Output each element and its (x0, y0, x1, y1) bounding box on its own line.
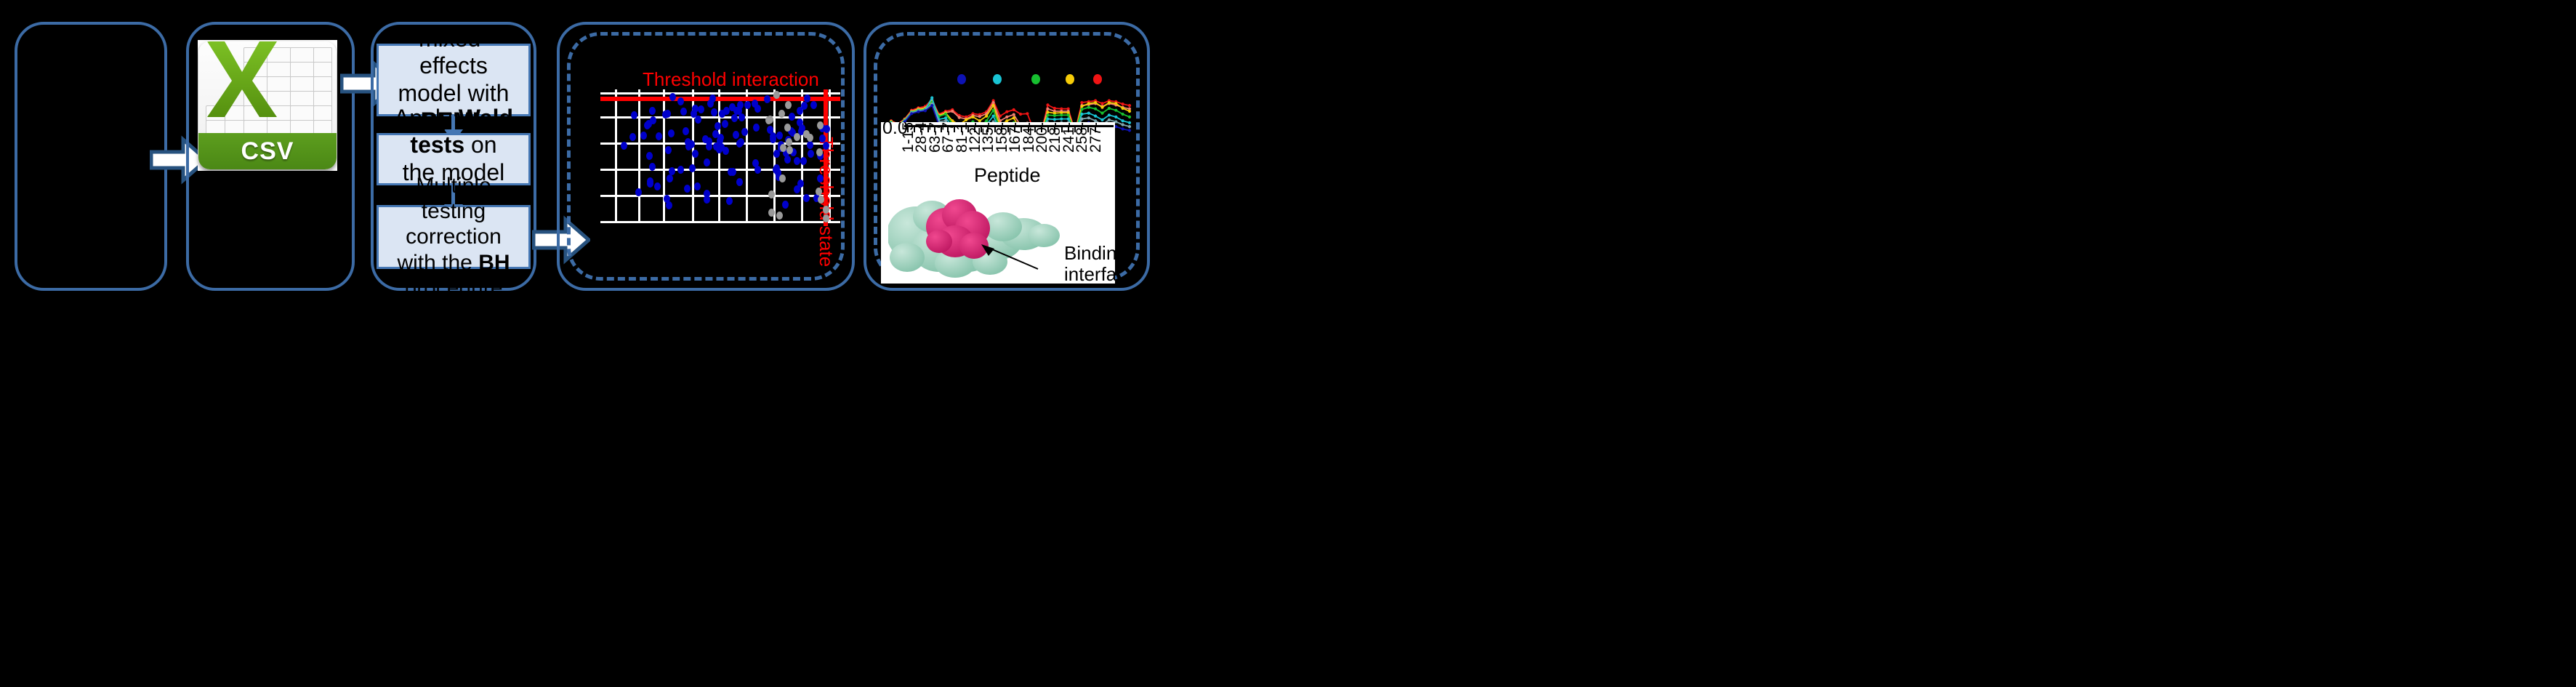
grid-line-h (600, 221, 840, 223)
protein-surface-render (888, 185, 1070, 281)
volcano-point-nonsignificant (780, 144, 786, 152)
fit-model-line-2: effects model with (398, 52, 510, 106)
series-green-marker (1100, 112, 1103, 115)
x-axis-title: Peptide (974, 164, 1041, 187)
series-green-marker (1046, 113, 1049, 116)
series-yellow-marker (992, 104, 995, 107)
volcano-point-significant (692, 150, 699, 158)
series-salmon-marker (958, 116, 961, 119)
series-green-marker (1080, 108, 1083, 111)
series-cyan-marker (930, 96, 933, 99)
excel-x-letter (203, 41, 281, 118)
series-red-marker (1122, 103, 1124, 105)
bh-line-3-tail: procedure (404, 276, 502, 300)
volcano-point-significant (819, 134, 826, 142)
binding-interface-line-1: Binding (1064, 243, 1115, 264)
volcano-point-significant (646, 152, 653, 160)
series-red-marker (1046, 103, 1049, 106)
volcano-point-significant (741, 128, 748, 136)
volcano-point-significant (733, 131, 739, 139)
volcano-point-significant (752, 100, 758, 108)
series-salmon-marker (992, 101, 995, 104)
bh-line-2: correction (406, 225, 502, 249)
empty-panel (15, 22, 167, 291)
series-green-marker (1087, 106, 1090, 109)
volcano-point-significant (823, 142, 829, 150)
binding-interface-line-2: interface (1064, 264, 1115, 284)
volcano-point-significant (824, 125, 830, 133)
volcano-point-significant (817, 174, 824, 182)
volcano-point-significant (753, 124, 760, 132)
series-green-marker (1067, 113, 1070, 116)
series-salmon-marker (951, 110, 954, 113)
series-steel-marker (1087, 116, 1090, 119)
series-blue-marker (1128, 129, 1131, 132)
series-yellow-marker (1046, 111, 1049, 113)
series-blue-marker (917, 111, 919, 113)
legend-dot-blue (957, 74, 966, 84)
series-cyan-marker (1114, 116, 1117, 118)
series-cyan-marker (944, 116, 947, 119)
volcano-point-significant (804, 95, 810, 103)
volcano-point-nonsignificant (794, 133, 800, 141)
fit-model-line-1: Fit a linear mixed- (399, 0, 507, 52)
series-blue-marker (910, 112, 913, 115)
volcano-point-significant (707, 100, 714, 108)
series-yellow-marker (1108, 101, 1111, 104)
series-cyan-marker (1122, 119, 1124, 122)
series-cyan-marker (1046, 118, 1049, 121)
wald-line-1-tail: on (464, 132, 496, 158)
volcano-point-nonsignificant (786, 146, 793, 154)
series-steel-marker (1122, 123, 1124, 126)
grid-line-v (663, 89, 665, 223)
volcano-point-significant (722, 120, 728, 128)
legend-dot-red (1093, 74, 1102, 84)
series-green-marker (1128, 116, 1131, 118)
series-red-marker (1053, 107, 1056, 110)
series-salmon-marker (1005, 116, 1008, 118)
threshold-interaction-label: Threshold interaction (643, 68, 819, 91)
volcano-point-significant (631, 111, 637, 119)
volcano-point-nonsignificant (776, 212, 783, 220)
volcano-point-significant (649, 163, 656, 171)
volcano-point-nonsignificant (816, 188, 822, 196)
wald-line-1-head: Apply (394, 105, 459, 131)
series-salmon-marker (1013, 113, 1015, 116)
legend-dot-yellow (1066, 74, 1074, 84)
series-red-marker (1026, 112, 1029, 115)
series-cyan-marker (1060, 118, 1063, 121)
volcano-point-significant (668, 129, 675, 137)
series-yellow-marker (1080, 105, 1083, 108)
volcano-point-significant (738, 113, 745, 121)
grid-line-v (615, 89, 617, 223)
series-yellow-marker (1094, 101, 1097, 104)
volcano-point-significant (694, 182, 701, 190)
volcano-point-nonsignificant (784, 124, 791, 132)
series-green-marker (1108, 107, 1111, 110)
series-red-marker (1128, 104, 1131, 107)
series-cyan-marker (1067, 118, 1070, 121)
volcano-point-significant (704, 196, 710, 204)
volcano-point-significant (715, 122, 721, 130)
peptide-results-card: 0.0 1-1528-4463-7367-7581-101122-129135-… (881, 122, 1115, 284)
series-cyan-marker (1108, 113, 1111, 116)
volcano-point-significant (698, 105, 704, 113)
series-cyan-marker (1087, 112, 1090, 115)
binding-interface-annotation: Binding interface (1064, 243, 1115, 284)
series-yellow-marker (1114, 102, 1117, 105)
volcano-point-significant (711, 108, 717, 116)
volcano-point-significant (704, 158, 710, 166)
series-blue-marker (924, 109, 927, 112)
volcano-point-significant (723, 147, 729, 155)
series-steel-marker (1108, 118, 1111, 121)
grid-line-h (600, 169, 840, 171)
volcano-point-significant (810, 101, 817, 109)
volcano-point-significant (677, 166, 684, 174)
volcano-point-significant (776, 132, 783, 140)
series-yellow-marker (1128, 110, 1131, 113)
series-green-marker (1053, 114, 1056, 117)
volcano-point-significant (654, 182, 661, 190)
volcano-point-significant (685, 138, 691, 146)
series-yellow-marker (965, 118, 967, 121)
volcano-point-nonsignificant (817, 121, 824, 129)
series-cyan-marker (1100, 118, 1103, 121)
bh-line-3-head: with the (397, 251, 478, 275)
bh-bold: BH (478, 251, 510, 275)
series-red-marker (1019, 113, 1022, 116)
volcano-point-significant (669, 167, 675, 175)
volcano-point-significant (731, 114, 738, 122)
series-yellow-marker (1122, 107, 1124, 110)
series-green-marker (944, 113, 947, 116)
legend-dot-green (1031, 74, 1040, 84)
series-steel-marker (1080, 118, 1083, 121)
series-green-marker (1094, 108, 1097, 111)
series-yellow-marker (985, 115, 988, 118)
series-cyan-marker (1080, 113, 1083, 116)
grid-line-v (746, 89, 748, 223)
series-cyan-marker (1053, 118, 1056, 121)
series-salmon-marker (978, 115, 981, 118)
series-salmon-marker (1046, 108, 1049, 111)
volcano-point-nonsignificant (786, 138, 792, 146)
grid-line-h (600, 92, 840, 95)
series-cyan-marker (1094, 115, 1097, 118)
volcano-point-significant (789, 113, 795, 121)
volcano-point-significant (706, 137, 712, 145)
csv-band: CSV (198, 133, 337, 169)
csv-label: CSV (241, 137, 294, 166)
series-cyan-marker (992, 115, 995, 118)
volcano-point-nonsignificant (768, 190, 775, 198)
series-cyan-marker (1128, 121, 1131, 124)
volcano-point-significant (736, 178, 743, 186)
volcano-point-significant (744, 101, 751, 109)
volcano-point-nonsignificant (773, 91, 780, 99)
series-yellow-marker (971, 116, 974, 118)
volcano-point-significant (770, 135, 776, 143)
series-red-marker (1005, 111, 1008, 113)
x-axis-tick-label: 277-284 (1087, 122, 1105, 153)
volcano-point-nonsignificant (823, 206, 829, 214)
series-yellow-marker (1100, 106, 1103, 109)
series-red-marker (1013, 108, 1015, 111)
grid-line-v (638, 89, 640, 223)
volcano-point-significant (635, 188, 642, 196)
volcano-point-nonsignificant (818, 196, 824, 204)
volcano-point-significant (640, 132, 647, 140)
series-steel-marker (1128, 125, 1131, 128)
legend-dot-cyan (993, 74, 1002, 84)
series-yellow-marker (1013, 116, 1015, 119)
series-yellow-marker (1087, 102, 1090, 105)
csv-file-card: CSV (198, 40, 337, 171)
series-green-marker (992, 109, 995, 112)
volcano-point-significant (733, 107, 740, 115)
volcano-point-significant (808, 150, 814, 158)
series-blue-marker (1122, 127, 1124, 130)
volcano-point-significant (650, 116, 656, 124)
series-green-marker (1114, 109, 1117, 112)
csv-file-icon: CSV (198, 41, 337, 169)
volcano-point-significant (767, 126, 773, 134)
series-red-marker (1100, 102, 1103, 105)
series-blue-marker (930, 104, 933, 107)
volcano-point-significant (738, 138, 744, 146)
series-green-marker (1122, 113, 1124, 116)
series-green-marker (1060, 113, 1063, 116)
series-red-marker (1080, 101, 1083, 104)
volcano-point-significant (669, 93, 676, 101)
volcano-point-significant (647, 177, 653, 185)
bh-line-1: Multiple testing (416, 174, 491, 223)
multiple-testing-box: Multiple testing correction with the BH … (377, 205, 531, 269)
